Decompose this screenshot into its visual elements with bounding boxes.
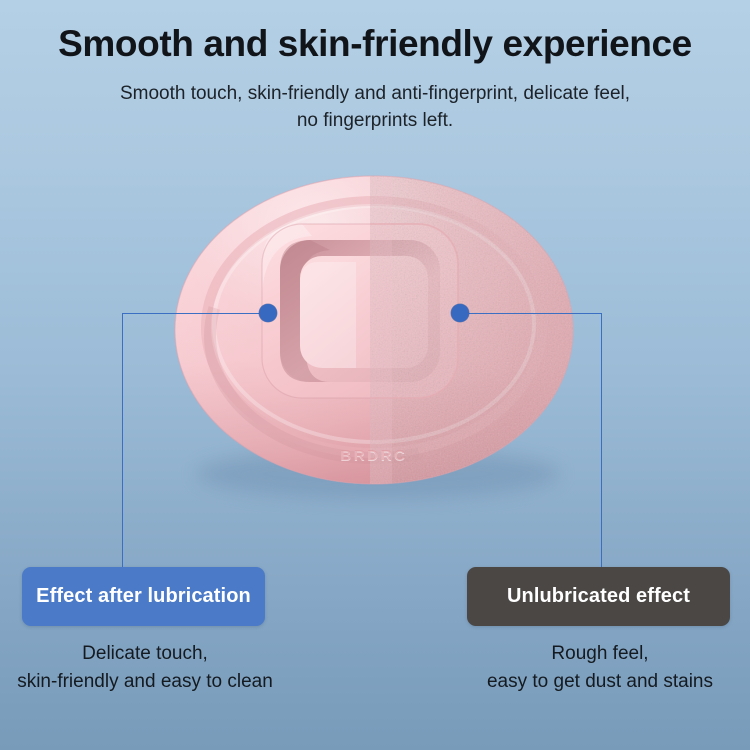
caption-lubricated: Delicate touch, skin-friendly and easy t… xyxy=(0,640,290,695)
page-subtitle: Smooth touch, skin-friendly and anti-fin… xyxy=(0,64,750,135)
caption-unlubricated-line-1: Rough feel, xyxy=(450,640,750,668)
rough-texture-overlay xyxy=(360,150,640,580)
label-chip-effect-after-lubrication[interactable]: Effect after lubrication xyxy=(22,567,265,626)
caption-unlubricated-line-2: easy to get dust and stains xyxy=(450,668,750,696)
subtitle-line-1: Smooth touch, skin-friendly and anti-fin… xyxy=(0,81,750,108)
subtitle-line-2: no fingerprints left. xyxy=(0,108,750,135)
page-title: Smooth and skin-friendly experience xyxy=(0,0,750,64)
label-chip-unlubricated-effect[interactable]: Unlubricated effect xyxy=(467,567,730,626)
caption-lubricated-line-2: skin-friendly and easy to clean xyxy=(0,668,290,696)
caption-unlubricated: Rough feel, easy to get dust and stains xyxy=(450,640,750,695)
caption-lubricated-line-1: Delicate touch, xyxy=(0,640,290,668)
headings-block: Smooth and skin-friendly experience Smoo… xyxy=(0,0,750,135)
product-feature-poster: BRDRC Smooth and skin-friendly experienc… xyxy=(0,0,750,750)
